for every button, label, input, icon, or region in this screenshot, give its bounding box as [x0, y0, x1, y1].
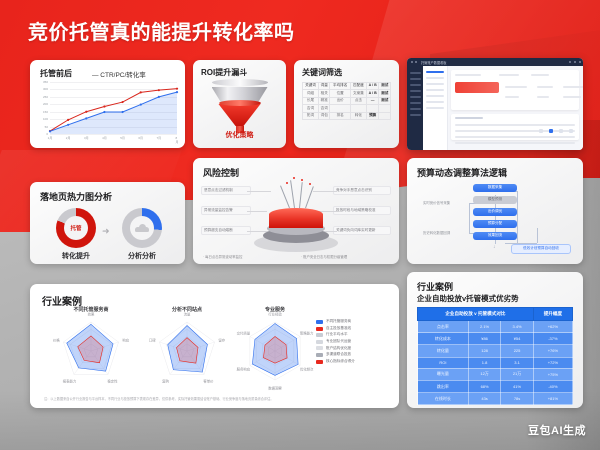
radar-axis-label: 价格	[53, 337, 60, 342]
keyword-table-cell: 测试	[379, 83, 391, 90]
legend-label: 不同托管服务商	[326, 320, 351, 324]
page-title: 竞价托管真的能提升转化率吗	[28, 16, 295, 45]
legend-item: 多渠道联合投放	[316, 353, 355, 357]
keyword-table-cell	[350, 105, 366, 112]
window-dot-1	[411, 61, 413, 63]
keyword-table-cell: 转化	[350, 112, 366, 119]
y-tick-label: 50	[45, 125, 48, 129]
industry-table-cell: 跳出率	[418, 380, 469, 392]
flow-node-4: 预算分配	[473, 220, 517, 228]
x-tick-label: 2月	[66, 136, 71, 140]
flow-side-label-1: 实时竞价信号采集	[423, 200, 450, 205]
keyword-table-cell: 位置	[330, 90, 350, 97]
flow-node-5: 效果回流	[473, 232, 517, 240]
radar-axis-label: 客单价	[203, 378, 213, 383]
keyword-table-cell: 文案集	[350, 90, 366, 97]
dashboard-data-grid	[451, 114, 579, 140]
arrow-icon: ➜	[102, 226, 110, 237]
keyword-table-cell	[366, 105, 379, 112]
risk-footnote-left: · 每日点击异常波动率监控	[203, 254, 242, 259]
flow-branch-right-3	[537, 228, 538, 243]
row-value-1	[505, 86, 527, 88]
sidebar-item-2[interactable]	[410, 78, 421, 80]
keyword-table-cell: 词包	[318, 112, 329, 119]
keyword-table-cell: A / B	[366, 83, 379, 90]
keyword-table-cell: 预算	[366, 112, 379, 119]
industry-table-cell: +62%	[533, 321, 572, 333]
spark-dot-4	[309, 183, 311, 185]
flow-side-label-2: 历史转化数据回溯	[423, 230, 450, 235]
keyword-table-cell: 相关	[318, 90, 329, 97]
radar-svg	[238, 318, 312, 384]
x-tick-label: 5月	[120, 136, 125, 140]
page-1[interactable]	[549, 129, 553, 133]
spark-3	[299, 182, 303, 208]
x-tick-label: 3月	[84, 136, 89, 140]
card-risk-control: 风险控制 恶意点击过滤机制 异常流量监控告警 预算超支自动熔断 竞争对手恶意点击…	[193, 158, 399, 264]
radar-svg	[54, 318, 128, 384]
keyword-table-cell: A / B	[366, 90, 379, 97]
x-tick-label: 7月	[157, 136, 162, 140]
keyword-table: 关键词词量平均排名匹配度A / B测试词组相关位置文案集A / B测试长尾精准出…	[302, 82, 391, 120]
heatmap-card-title: 落地页热力图分析	[40, 190, 112, 203]
dashboard-titlebar: 托管账户数据看板	[407, 58, 583, 66]
line-chart-point	[85, 111, 87, 113]
subnav-item-6[interactable]	[426, 101, 444, 103]
keyword-table-cell	[379, 112, 391, 119]
card-industry-table: 行业案例 企业自助投放v托管模式优劣势 企业自助投放 v 托管模式对比提升幅度点…	[407, 272, 583, 408]
keyword-table-cell: 精准	[318, 97, 329, 104]
industry-table-subtitle: 企业自助投放v托管模式优劣势	[417, 293, 519, 304]
keyword-table-cell: 长尾	[303, 97, 319, 104]
keyword-table-cell: 词组	[303, 90, 319, 97]
legend-swatch	[316, 353, 323, 357]
card-heatmap: 落地页热力图分析 托管 ➜ 转化提升 分析分析	[30, 182, 185, 264]
connector-r1	[313, 191, 337, 192]
radar-axis-label: 留存	[218, 337, 225, 342]
radar-svg	[150, 318, 224, 384]
spark-dot-1	[286, 182, 288, 184]
flow-node-3: 出价调优	[473, 208, 517, 216]
heatmap-caption-left: 转化提升	[50, 251, 102, 261]
sidebar-item-1[interactable]	[410, 72, 421, 74]
line-chart-area	[50, 92, 177, 134]
industry-table-cell: 128	[468, 345, 500, 357]
card-keyword-filter: 关键词筛选 关键词词量平均排名匹配度A / B测试词组相关位置文案集A / B测…	[294, 60, 399, 148]
risk-tag-right-2: 投放时段与地域策略校准	[333, 206, 391, 215]
line-chart-point	[67, 124, 69, 126]
heatmap-caption-right: 分析分析	[116, 251, 168, 261]
radar-axis-label: 稳定性	[107, 378, 117, 383]
line-chart-point	[140, 103, 142, 105]
legend-swatch	[316, 320, 323, 324]
industry-table-header-delta: 提升幅度	[533, 308, 572, 321]
page-prev[interactable]	[539, 129, 543, 133]
line-chart-point	[121, 101, 123, 103]
radar-chart-2: 流量留存客单价复购口碑	[150, 318, 224, 384]
window-dot-max	[574, 61, 576, 63]
industry-table-cell: 曝光量	[418, 368, 469, 380]
donut-left: 托管	[56, 208, 96, 248]
radar-axis-label: 效果	[88, 312, 95, 317]
window-dot-2	[415, 61, 417, 63]
connector-l1	[247, 191, 271, 192]
industry-table-cell: 225	[501, 345, 534, 357]
card-line-chart: 托管前后 — CTR/PC/转化率 0501001502002503003501…	[30, 60, 185, 148]
y-tick-label: 200	[43, 102, 48, 106]
industry-table-cell: 转化量	[418, 345, 469, 357]
legend-item: 行业平均水平	[316, 333, 355, 337]
legend-swatch	[316, 333, 323, 337]
legend-item: 专业团队代运营	[316, 340, 355, 344]
legend-label: 专业团队代运营	[326, 340, 351, 344]
line-chart-point	[158, 89, 160, 91]
keyword-table-cell	[379, 105, 391, 112]
keyword-table-row: 词组相关位置文案集A / B测试	[303, 90, 391, 97]
roi-card-title: ROI提升漏斗	[201, 67, 247, 78]
sidebar-item-8[interactable]	[410, 114, 421, 116]
risk-tag-left-2: 异常流量监控告警	[201, 206, 251, 215]
x-tick-label: 8月	[176, 136, 179, 144]
dashboard-pagination[interactable]	[451, 120, 573, 138]
industry-table-cell: 78s	[501, 393, 534, 405]
dashboard-title: 托管账户数据看板	[421, 60, 447, 65]
legend-label: 自主投放基准线	[326, 327, 351, 331]
card-budget-algorithm: 预算动态调整算法逻辑 数据采集 模型预测 出价调优 预算分配 效果回流 低效计划…	[407, 158, 583, 264]
legend-label: 核心指标综合得分	[326, 360, 355, 364]
x-tick-label: 4月	[102, 136, 107, 140]
industry-table-cell: -40%	[533, 380, 572, 392]
card-roi-funnel: ROI提升漏斗 优化策略	[193, 60, 286, 148]
industry-table-cell: 2.1%	[468, 321, 500, 333]
industry-table-cell: 1.8	[468, 357, 500, 368]
risk-tag-right-1: 竞争对手恶意点击识别	[333, 186, 391, 195]
flow-arrow-icon: ↓	[493, 244, 496, 250]
radar-axis-label: 服务响应	[237, 367, 251, 372]
sidebar-item-4[interactable]	[410, 90, 421, 92]
dashboard-subnav[interactable]	[423, 66, 448, 150]
subnav-item-5[interactable]	[426, 95, 444, 97]
sidebar-item-6[interactable]	[410, 102, 421, 104]
line-chart-point	[103, 111, 105, 113]
flow-branch-right-v	[517, 191, 518, 243]
flow-node-1: 数据采集	[473, 184, 517, 192]
page-2[interactable]	[559, 129, 563, 133]
radar-axis-label: 报表能力	[63, 378, 77, 383]
radar-axis-label: 行业经验	[268, 312, 282, 317]
line-chart-title: 托管前后	[40, 68, 72, 79]
grid-row-4	[455, 142, 575, 144]
flow-node-branch: 低效计划预算自动回收	[511, 244, 571, 254]
radar-axis-label: 流量	[184, 312, 191, 317]
industry-table-cell: 点击率	[418, 321, 469, 333]
risk-card-title: 风险控制	[203, 166, 239, 179]
dashboard-filter-panel	[451, 70, 579, 110]
roi-card-label: 优化策略	[193, 130, 286, 140]
industry-table-header-row: 企业自助投放 v 托管模式对比提升幅度	[418, 308, 573, 321]
window-dot-min	[569, 61, 571, 63]
radar-axis-label: 策略能力	[300, 330, 314, 335]
filter-label-3	[531, 74, 549, 76]
spark-dot-2	[293, 177, 295, 179]
industry-table-cell: 68%	[468, 380, 500, 392]
legend-label: 行业平均水平	[326, 333, 348, 337]
row-value-4	[505, 96, 519, 98]
y-tick-label: 100	[43, 117, 48, 121]
keyword-card-title: 关键词筛选	[302, 67, 342, 78]
radar-chart-3: 行业经验策略能力优化频次数据洞察服务响应交付质量	[238, 318, 312, 384]
line-chart-point	[49, 130, 51, 132]
line-chart-point	[85, 117, 87, 119]
line-chart-series-label: — CTR/PC/转化率	[92, 69, 146, 79]
subnav-item-2[interactable]	[426, 77, 444, 79]
x-tick-label: 6月	[138, 136, 143, 140]
radar-axis-label: 优化频次	[300, 367, 314, 372]
keyword-table-row: 否词否词	[303, 105, 391, 112]
keyword-table-row: 关键词词量平均排名匹配度A / B测试	[303, 83, 391, 90]
subnav-item-7[interactable]	[426, 107, 444, 109]
risk-tag-left-3: 预算超支自动熔断	[201, 226, 251, 235]
funnel-rim	[212, 79, 268, 86]
funnel-graphic	[212, 82, 268, 126]
risk-tag-right-3: 关键词负向词库实时更新	[333, 226, 391, 235]
row-value-3	[563, 86, 583, 88]
industry-table-row: 转化量128225+76%	[418, 345, 573, 357]
y-gridline	[50, 134, 177, 135]
funnel-fill	[212, 104, 268, 126]
industry-table-cell: 43s	[468, 393, 500, 405]
keyword-table-cell: 出价	[330, 97, 350, 104]
radar-axis-label: 口碑	[149, 337, 156, 342]
spark-2	[290, 180, 295, 208]
sidebar-item-3[interactable]	[410, 84, 421, 86]
risk-tag-left-1: 恶意点击过滤机制	[201, 186, 251, 195]
industry-table-cell: 转化成本	[418, 333, 469, 345]
page-next[interactable]	[569, 129, 573, 133]
line-chart-point	[121, 111, 123, 113]
keyword-table-cell: 测试	[379, 97, 391, 104]
sidebar-item-5[interactable]	[410, 96, 421, 98]
line-chart-svg	[50, 82, 177, 134]
keyword-table-cell: 点击	[350, 97, 366, 104]
legend-swatch	[316, 327, 323, 331]
x-tick-label: 1月	[48, 136, 53, 140]
radar-legend: 不同托管服务商自主投放基准线行业平均水平专业团队代运营账户结构优化度多渠道联合投…	[316, 320, 355, 366]
risk-footnote-right: · 账户安全日志与权限分级管理	[301, 254, 347, 259]
industry-table-cell: +75%	[533, 368, 572, 380]
radar-axis-label: 数据洞察	[268, 385, 282, 390]
subnav-item-3[interactable]	[426, 83, 444, 85]
industry-table-row: 跳出率68%41%-40%	[418, 380, 573, 392]
disc-top	[269, 208, 323, 221]
keyword-table-cell: 否词	[303, 105, 319, 112]
industry-table-title: 行业案例	[417, 280, 453, 293]
line-chart-point	[158, 96, 160, 98]
keyword-table-cell: 平均排名	[330, 83, 350, 90]
legend-item: 不同托管服务商	[316, 320, 355, 324]
cloud-icon	[135, 224, 149, 232]
subnav-item-active[interactable]	[426, 71, 444, 73]
window-dot-close	[579, 61, 581, 63]
filter-label-1	[455, 74, 481, 76]
row-value-5	[537, 96, 549, 98]
keyword-table-cell: 拓词	[303, 112, 319, 119]
donut-left-label: 托管	[64, 216, 88, 240]
filter-label-2	[499, 74, 519, 76]
legend-item: 核心指标综合得分	[316, 360, 355, 364]
budget-card-title: 预算动态调整算法逻辑	[417, 166, 507, 179]
industry-table-row: ROI1.83.1+72%	[418, 357, 573, 368]
slide-canvas: 竞价托管真的能提升转化率吗 托管前后 — CTR/PC/转化率 05010015…	[0, 0, 600, 450]
keyword-table-row: 拓词词包排名转化预算	[303, 112, 391, 119]
industry-table-cell: -37%	[533, 333, 572, 345]
legend-item: 账户结构优化度	[316, 346, 355, 350]
y-tick-label: 350	[43, 80, 48, 84]
line-chart-point	[176, 91, 178, 93]
keyword-table-cell: 排名	[330, 112, 350, 119]
keyword-table-cell: —	[366, 97, 379, 104]
radar-axis-label: 复购	[162, 378, 169, 383]
line-chart-plot: 0501001502002503003501月2月3月4月5月6月7月8月	[50, 82, 177, 134]
industry-table-cell: 12万	[468, 368, 500, 380]
watermark: 豆包AI生成	[528, 422, 586, 438]
legend-swatch	[316, 340, 323, 344]
y-tick-label: 250	[43, 95, 48, 99]
industry-table-cell: 在线时长	[418, 393, 469, 405]
keyword-table-cell: 测试	[379, 90, 391, 97]
y-tick-label: 150	[43, 110, 48, 114]
legend-label: 账户结构优化度	[326, 347, 351, 351]
flow-node-2: 模型预测	[473, 196, 517, 204]
keyword-table-cell: 匹配度	[350, 83, 366, 90]
industry-table-cell: ¥86	[468, 333, 500, 345]
card-dashboard-screenshot: 托管账户数据看板	[407, 58, 583, 150]
sidebar-item-7[interactable]	[410, 108, 421, 110]
industry-table-header-main: 企业自助投放 v 托管模式对比	[418, 308, 534, 321]
dashboard-sidebar[interactable]	[407, 66, 423, 150]
industry-table-row: 转化成本¥86¥54-37%	[418, 333, 573, 345]
legend-item: 自主投放基准线	[316, 327, 355, 331]
funnel-fill-rim	[219, 100, 261, 106]
industry-table-cell: ¥54	[501, 333, 534, 345]
dashboard-main	[423, 66, 583, 150]
y-tick-label: 300	[43, 87, 48, 91]
radar-chart-1: 效果响应稳定性报表能力价格	[54, 318, 128, 384]
keyword-table-cell: 关键词	[303, 83, 319, 90]
row-value-6	[563, 96, 581, 98]
flow-branch-left-v	[469, 203, 470, 233]
spark-4	[305, 186, 314, 208]
industry-table-cell: +81%	[533, 393, 572, 405]
industry-table-cell: 41%	[501, 380, 534, 392]
donut-right	[122, 208, 162, 248]
line-chart-point	[140, 91, 142, 93]
row-value-2	[537, 86, 553, 88]
industry-table-row: 点击率2.1%3.4%+62%	[418, 321, 573, 333]
radar-axis-label: 响应	[122, 337, 129, 342]
grid-header	[455, 117, 483, 119]
industry-table-cell: 3.1	[501, 357, 534, 368]
legend-swatch	[316, 360, 323, 364]
keyword-table-cell: 否词	[318, 105, 329, 112]
industry-table-cell: 3.4%	[501, 321, 534, 333]
subnav-item-4[interactable]	[426, 89, 444, 91]
industry-table-cell: +76%	[533, 345, 572, 357]
keyword-table-cell: 词量	[318, 83, 329, 90]
keyword-table-row: 长尾精准出价点击—测试	[303, 97, 391, 104]
line-chart-point	[176, 88, 178, 90]
industry-table-row: 在线时长43s78s+81%	[418, 393, 573, 405]
card-radar-cases: 行业案例 不同托管服务商 分析不同站点 专业服务 效果响应稳定性报表能力价格 流…	[30, 284, 399, 408]
line-chart-point	[103, 105, 105, 107]
keyword-table-cell	[330, 105, 350, 112]
industry-table-cell: +72%	[533, 357, 572, 368]
radar-axis-label: 交付质量	[237, 330, 251, 335]
industry-table-cell: ROI	[418, 357, 469, 368]
line-chart-point	[67, 119, 69, 121]
legend-label: 多渠道联合投放	[326, 353, 351, 357]
radar-footnote: 注：以上数据来自公开行业报告与平台样本，不同行业与投放预算下表现存在差异，仅供参…	[44, 397, 385, 402]
spark-dot-3	[301, 179, 303, 181]
connector-l2	[247, 211, 267, 212]
industry-table-cell: 21万	[501, 368, 534, 380]
spark-1	[280, 186, 290, 209]
industry-comparison-table: 企业自助投放 v 托管模式对比提升幅度点击率2.1%3.4%+62%转化成本¥8…	[417, 307, 573, 405]
industry-table-row: 曝光量12万21万+75%	[418, 368, 573, 380]
donut-right-hole	[130, 216, 154, 240]
legend-swatch	[316, 346, 323, 350]
highlight-row[interactable]	[455, 82, 499, 93]
